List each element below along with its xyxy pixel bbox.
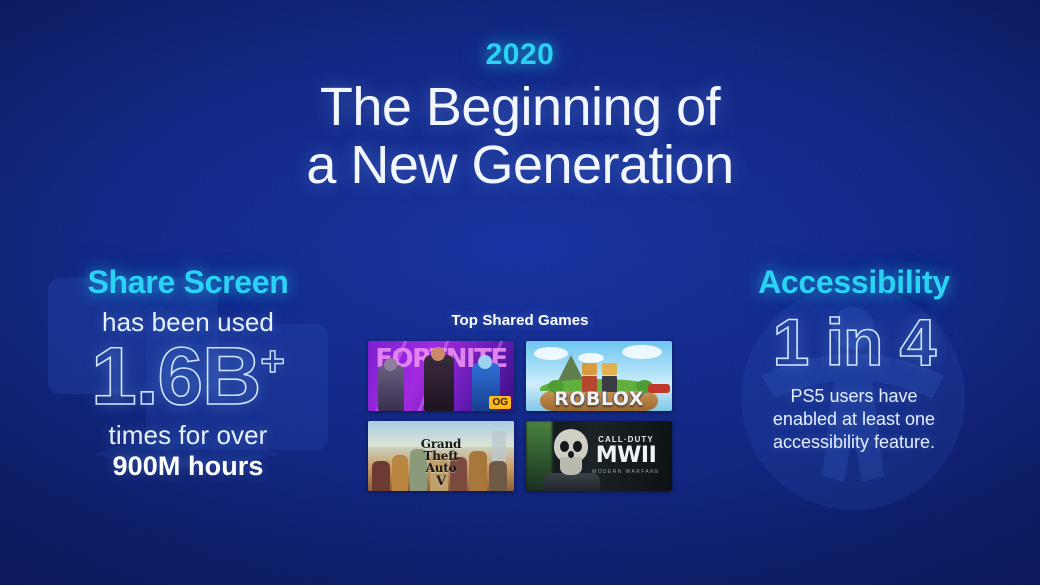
cod-title: MWII (586, 445, 666, 467)
game-tile-call-of-duty-mwii[interactable]: CALL·DUTY MWII MODERN WARFARE Call of Du… (526, 421, 672, 491)
page-title-line-1: The Beginning of (0, 78, 1040, 136)
game-tile-gta-v[interactable]: Grand Theft Auto V Grand Theft Auto V (368, 421, 514, 491)
accessibility-body: PS5 users have enabled at least one acce… (680, 385, 1028, 454)
accessibility-body-line-3: accessibility feature. (680, 431, 1028, 454)
share-screen-stat-suffix: + (260, 338, 285, 385)
cod-logo: CALL·DUTY MWII MODERN WARFARE (586, 435, 666, 475)
page-title: The Beginning of a New Generation (0, 78, 1040, 195)
share-screen-caption: times for over (14, 420, 362, 451)
game-tile-roblox[interactable]: ROBLOX Roblox (526, 341, 672, 411)
share-screen-title: Share Screen (14, 264, 362, 301)
gta-logo-line-4: V (368, 475, 514, 488)
share-screen-stat: 1.6B+ (14, 336, 362, 418)
accessibility-body-line-1: PS5 users have (680, 385, 1028, 408)
gta-logo-line-3: Auto (368, 462, 514, 474)
fortnite-og-badge: OG (489, 396, 511, 409)
accessibility-body-line-2: enabled at least one (680, 408, 1028, 431)
cod-subtitle: MODERN WARFARE (586, 469, 666, 475)
accessibility-stat: 1 in 4 (680, 309, 1028, 375)
game-tile-fortnite[interactable]: FORTNITE OG Fortnite (368, 341, 514, 411)
top-shared-games-title: Top Shared Games (368, 312, 672, 329)
roblox-wordmark: ROBLOX (526, 388, 672, 410)
game-tile-grid: FORTNITE OG Fortnite ROBLOX Roblox (368, 341, 672, 491)
share-screen-emphasis: 900M hours (14, 451, 362, 482)
accessibility-title: Accessibility (680, 264, 1028, 301)
header: 2020 The Beginning of a New Generation (0, 38, 1040, 195)
top-shared-games-section: Top Shared Games FORTNITE OG Fortnite (368, 312, 672, 491)
share-screen-panel: Share Screen has been used 1.6B+ times f… (14, 264, 362, 482)
share-screen-stat-value: 1.6B (91, 331, 260, 422)
year-label: 2020 (0, 38, 1040, 72)
accessibility-panel: Accessibility 1 in 4 PS5 users have enab… (680, 264, 1028, 454)
page-title-line-2: a New Generation (0, 136, 1040, 194)
gta-v-logo: Grand Theft Auto V (368, 438, 514, 488)
